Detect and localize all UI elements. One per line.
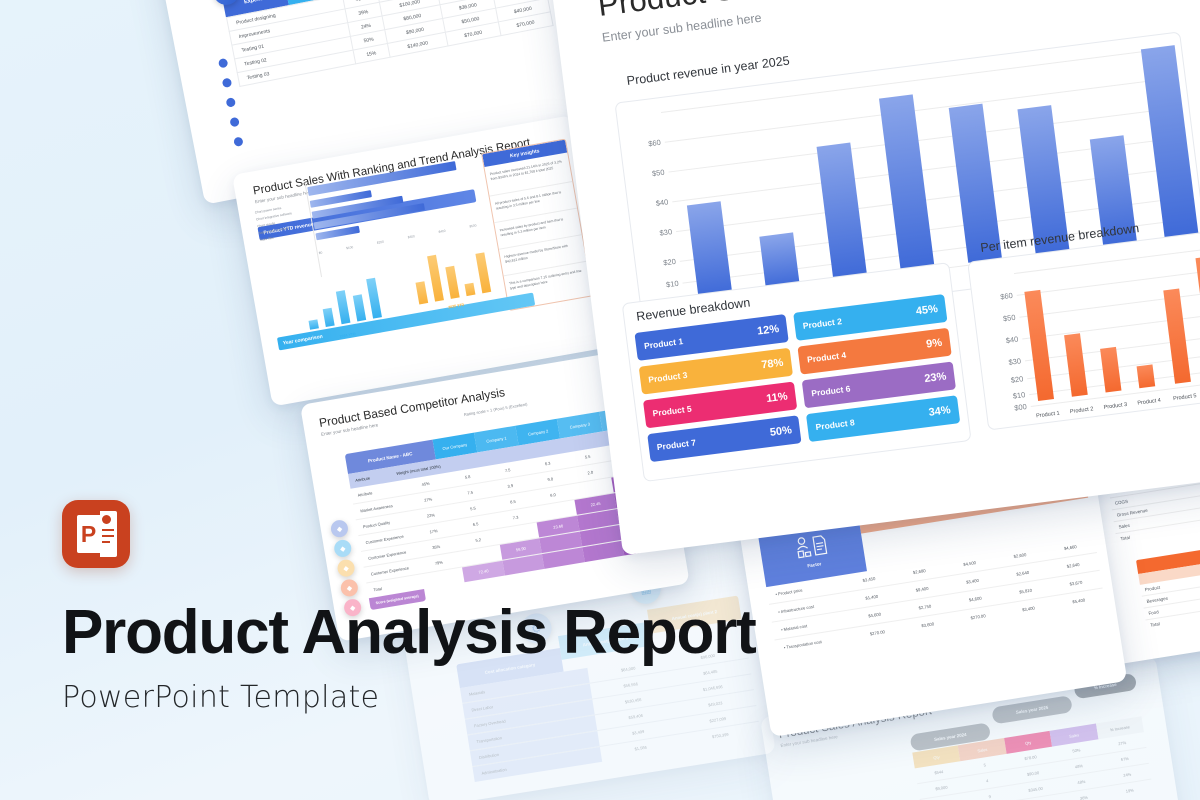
powerpoint-logo-icon: P xyxy=(62,500,130,568)
ytd-category-labels: Chart power series Chart integrative sof… xyxy=(254,203,296,244)
logo-letter: P xyxy=(77,515,100,553)
chart-title: Revenue breakdown xyxy=(636,295,752,323)
x-tick: Product 1 xyxy=(1036,410,1060,419)
y-tick: $40 xyxy=(1005,335,1019,345)
brand-block: P Product Analysis Report PowerPoint Tem… xyxy=(62,500,756,715)
logo-slide-shape xyxy=(100,511,117,557)
slide-product-sales-revenue[interactable]: Product Sales Revenue Analysis Report En… xyxy=(548,0,1200,555)
y-tick: $00 xyxy=(1014,402,1028,412)
y-tick: $20 xyxy=(1010,374,1024,384)
y-tick: $50 xyxy=(652,168,666,178)
y-tick: $10 xyxy=(1012,390,1026,400)
y-tick: $60 xyxy=(1000,291,1014,301)
y-tick: $20 xyxy=(663,257,677,267)
page-title: Product Analysis Report xyxy=(62,602,756,664)
page-subtitle: PowerPoint Template xyxy=(62,680,756,715)
y-tick: $30 xyxy=(659,227,673,237)
y-tick: $30 xyxy=(1008,356,1022,366)
food-table: Food Qty Total Product9$45 Beverages3$28… xyxy=(1136,529,1200,631)
x-tick: Product 5 xyxy=(1173,393,1197,402)
slide-collage-canvas: Product Beverages Qty Total Gross Mrg % … xyxy=(0,0,1200,800)
x-tick: Product 2 xyxy=(1070,406,1094,415)
expense-table: Product designing45%$50,000$30,000$20,00… xyxy=(226,0,554,87)
x-tick: Product 4 xyxy=(1137,398,1161,407)
y-tick: $60 xyxy=(648,138,662,148)
comparison-chart-icon xyxy=(793,532,830,561)
y-tick: $40 xyxy=(655,197,669,207)
y-tick: $10 xyxy=(666,279,680,289)
x-tick: Product 3 xyxy=(1103,402,1127,411)
y-tick: $50 xyxy=(1002,313,1016,323)
chart-title: Product revenue in year 2025 xyxy=(626,54,790,88)
